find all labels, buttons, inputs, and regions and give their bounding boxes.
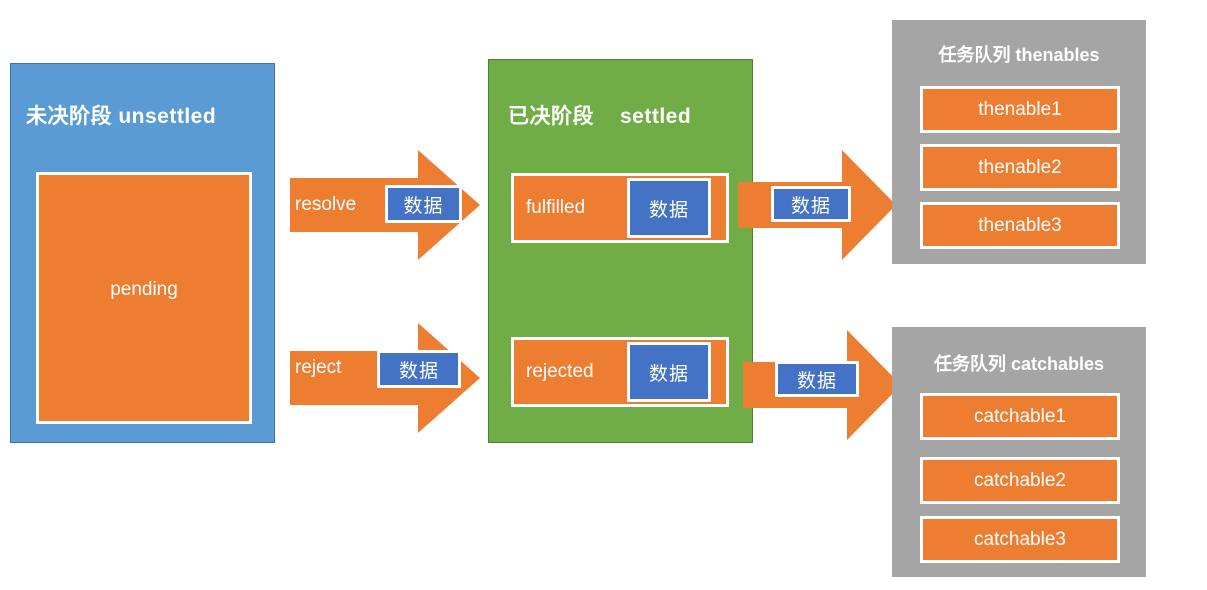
state-box-pending: pending — [36, 172, 252, 424]
arrow-reject-label: reject — [295, 357, 341, 379]
arrow-resolve-label: resolve — [295, 194, 356, 216]
data-chip-to-thenables: 数据 — [771, 186, 851, 222]
list-item: catchable2 — [920, 457, 1120, 504]
panel-settled-title: 已决阶段settled — [508, 100, 691, 130]
state-label-rejected: rejected — [526, 361, 594, 383]
panel-settled-title-en: settled — [620, 105, 691, 128]
state-label-fulfilled: fulfilled — [526, 197, 585, 219]
panel-queue-catchables-title: 任务队列 catchables — [892, 350, 1146, 376]
data-chip-reject: 数据 — [377, 350, 461, 388]
panel-queue-thenables-title: 任务队列 thenables — [892, 41, 1146, 67]
list-item: thenable2 — [920, 144, 1120, 191]
data-chip-resolve: 数据 — [385, 185, 462, 223]
panel-settled-title-cn: 已决阶段 — [508, 105, 594, 128]
diagram-canvas: 未决阶段 unsettled pending resolve 数据 reject… — [0, 0, 1207, 590]
state-label-pending: pending — [39, 279, 249, 301]
data-chip-fulfilled: 数据 — [627, 178, 711, 238]
list-item: thenable3 — [920, 202, 1120, 249]
list-item: catchable3 — [920, 516, 1120, 563]
data-chip-rejected: 数据 — [627, 342, 711, 402]
list-item: thenable1 — [920, 86, 1120, 133]
list-item: catchable1 — [920, 393, 1120, 440]
data-chip-to-catchables: 数据 — [775, 361, 859, 397]
panel-unsettled-title: 未决阶段 unsettled — [26, 100, 216, 130]
